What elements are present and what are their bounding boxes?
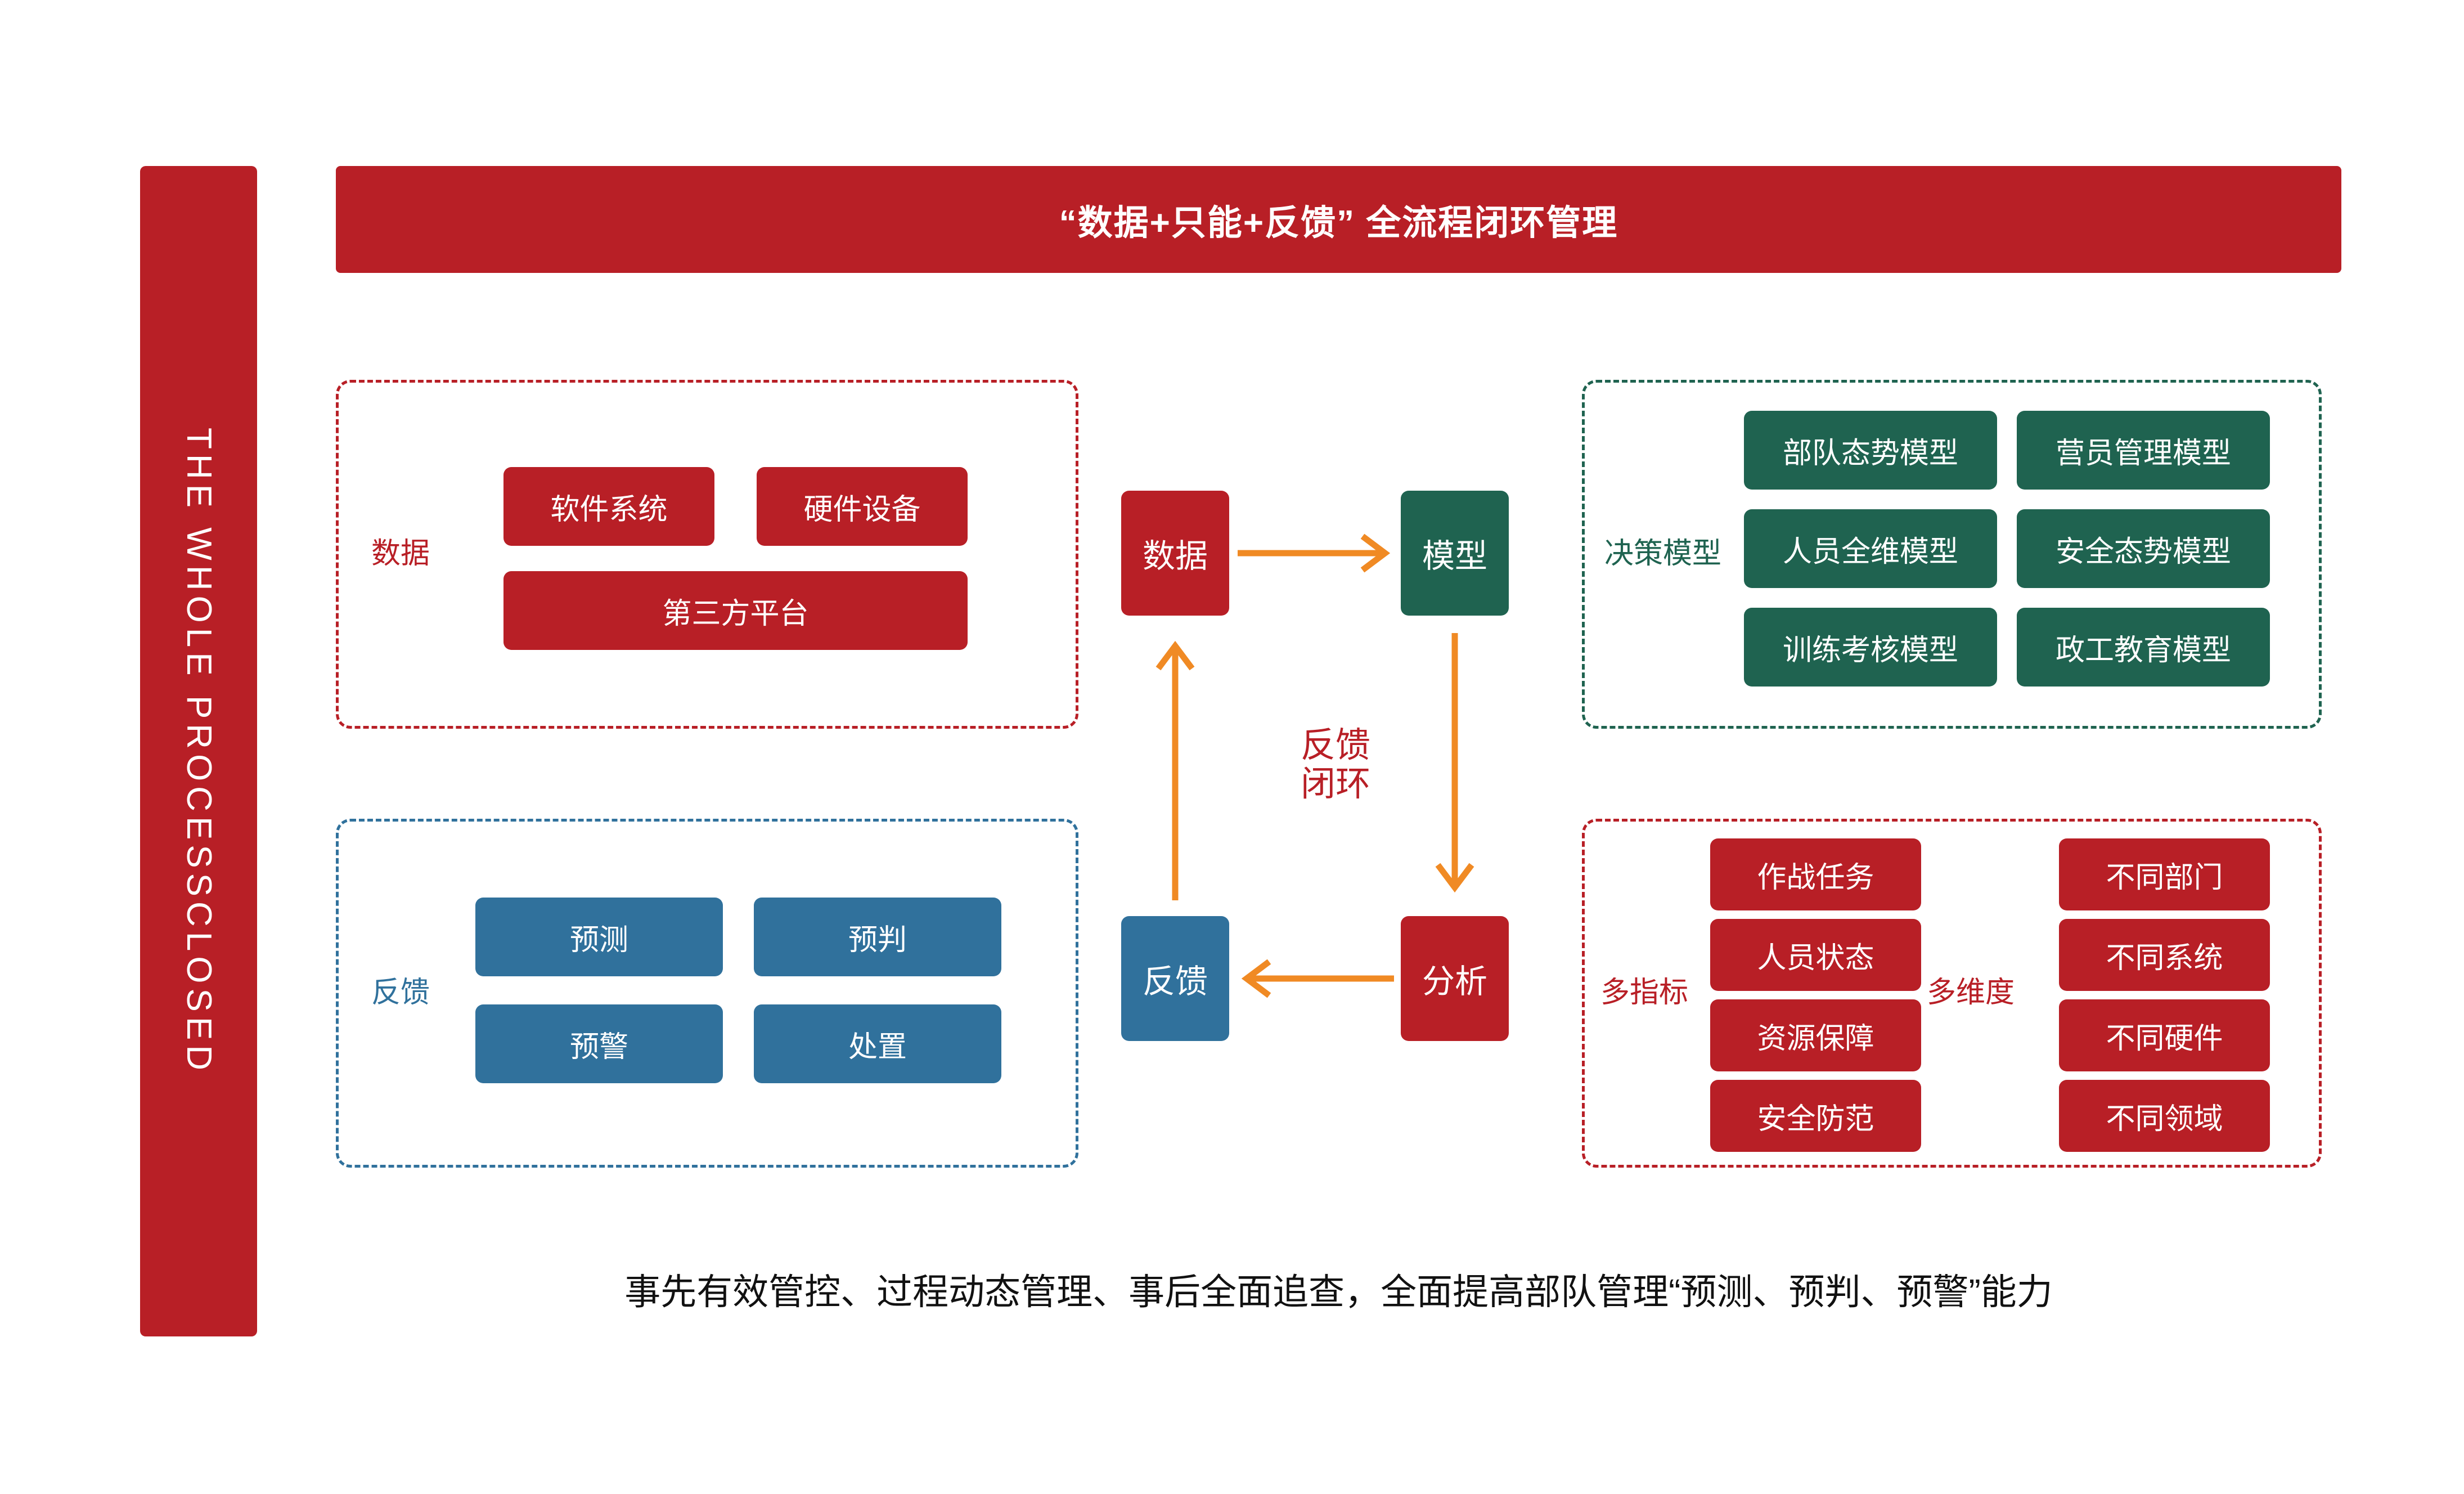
chip-software-system[interactable]: 软件系统 [503, 467, 714, 546]
chip-camper-management-model[interactable]: 营员管理模型 [2017, 411, 2270, 490]
arrow-analysis-to-feedback [1242, 959, 1394, 998]
chip-training-assessment-model[interactable]: 训练考核模型 [1744, 608, 1997, 687]
arrow-model-to-analysis [1435, 633, 1474, 898]
chip-personnel-full-dimension-model[interactable]: 人员全维模型 [1744, 509, 1997, 588]
cycle-center-line-2: 闭环 [1262, 765, 1409, 804]
panel-data [336, 380, 1078, 729]
chip-disposal[interactable]: 处置 [754, 1004, 1001, 1083]
chip-different-systems[interactable]: 不同系统 [2059, 919, 2270, 991]
chip-resource-assurance[interactable]: 资源保障 [1710, 999, 1921, 1071]
chip-different-domains[interactable]: 不同领域 [2059, 1080, 2270, 1152]
chip-security-protection[interactable]: 安全防范 [1710, 1080, 1921, 1152]
sidebar-label: THE WHOLE PROCESSCLOSED [179, 428, 219, 1075]
cycle-node-data[interactable]: 数据 [1121, 491, 1229, 616]
chip-political-education-model[interactable]: 政工教育模型 [2017, 608, 2270, 687]
chip-hardware-device[interactable]: 硬件设备 [757, 467, 968, 546]
arrow-data-to-model [1238, 533, 1395, 573]
page-title: “数据+只能+反馈” 全流程闭环管理 [1059, 194, 1618, 245]
chip-early-warning[interactable]: 预警 [475, 1004, 723, 1083]
cycle-center-label: 反馈 闭环 [1262, 726, 1409, 804]
chip-combat-mission[interactable]: 作战任务 [1710, 838, 1921, 910]
chip-different-departments[interactable]: 不同部门 [2059, 838, 2270, 910]
chip-personnel-status[interactable]: 人员状态 [1710, 919, 1921, 991]
panel-feedback [336, 819, 1078, 1168]
footer-caption: 事先有效管控、过程动态管理、事后全面追查，全面提高部队管理“预测、预判、预警”能… [336, 1263, 2341, 1315]
arrow-feedback-to-data [1155, 636, 1195, 900]
panel-indicators-right-label: 多维度 [1927, 976, 2015, 1010]
sidebar-banner: THE WHOLE PROCESSCLOSED [140, 166, 257, 1336]
chip-different-hardware[interactable]: 不同硬件 [2059, 999, 2270, 1071]
panel-indicators-left-label: 多指标 [1600, 976, 1688, 1010]
panel-data-label: 数据 [371, 537, 430, 571]
cycle-node-analysis[interactable]: 分析 [1401, 916, 1509, 1041]
cycle-center-line-1: 反馈 [1262, 726, 1409, 765]
chip-security-posture-model[interactable]: 安全态势模型 [2017, 509, 2270, 588]
chip-third-party-platform[interactable]: 第三方平台 [503, 571, 968, 650]
cycle-node-model[interactable]: 模型 [1401, 491, 1509, 616]
chip-forecast[interactable]: 预测 [475, 898, 723, 976]
cycle-node-feedback[interactable]: 反馈 [1121, 916, 1229, 1041]
panel-decision-model-label: 决策模型 [1604, 537, 1721, 571]
chip-force-posture-model[interactable]: 部队态势模型 [1744, 411, 1997, 490]
chip-prejudgment[interactable]: 预判 [754, 898, 1001, 976]
panel-feedback-label: 反馈 [371, 976, 430, 1010]
title-banner: “数据+只能+反馈” 全流程闭环管理 [336, 166, 2341, 273]
